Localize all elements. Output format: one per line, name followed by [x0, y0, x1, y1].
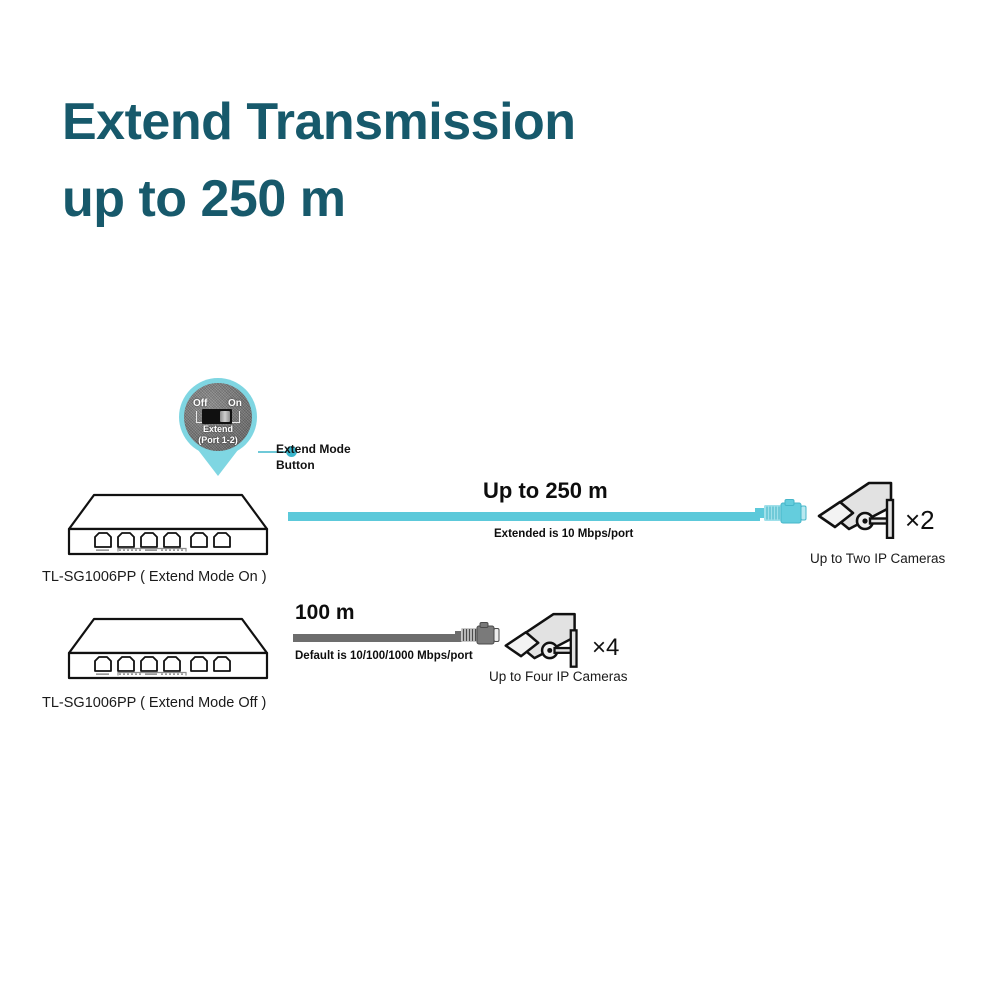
- ip-camera-icon: [500, 608, 588, 673]
- default-camera-caption: Up to Four IP Cameras: [489, 669, 628, 684]
- switch-device-extend-off: [60, 614, 276, 691]
- switch-device-extend-on: [60, 490, 276, 567]
- extended-camera-caption: Up to Two IP Cameras: [810, 551, 945, 566]
- extended-rate-label: Extended is 10 Mbps/port: [494, 528, 633, 540]
- switch-name-label: Extend: [184, 424, 252, 434]
- default-distance-label: 100 m: [295, 601, 355, 625]
- switch-chassis-icon: [60, 614, 276, 686]
- ip-camera-icon: [813, 477, 905, 544]
- switch-caption-extend-off: TL-SG1006PP ( Extend Mode Off ): [42, 695, 266, 711]
- extend-mode-button-callout-pin: Off On Extend (Port 1-2): [179, 378, 257, 488]
- extended-camera-multiplier: ×2: [905, 505, 935, 536]
- default-cable: [293, 634, 463, 642]
- diagram-stage: Off On Extend (Port 1-2) Extend Mode But…: [0, 0, 1000, 1000]
- rj45-connector-icon: [755, 499, 807, 532]
- switch-chassis-icon: [60, 490, 276, 562]
- default-rate-label: Default is 10/100/1000 Mbps/port: [295, 650, 473, 662]
- extended-distance-label: Up to 250 m: [483, 478, 608, 504]
- switch-off-label: Off: [193, 398, 207, 409]
- default-camera-multiplier: ×4: [592, 634, 619, 662]
- switch-nub-icon[interactable]: [220, 411, 230, 422]
- switch-on-label: On: [228, 398, 242, 409]
- callout-label: Extend Mode Button: [276, 441, 351, 473]
- switch-caption-extend-on: TL-SG1006PP ( Extend Mode On ): [42, 569, 267, 585]
- switch-ports-label: (Port 1-2): [184, 435, 252, 445]
- pin-face-photo: Off On Extend (Port 1-2): [184, 383, 252, 451]
- rj45-connector-icon: [455, 621, 503, 654]
- extended-cable: [288, 512, 760, 521]
